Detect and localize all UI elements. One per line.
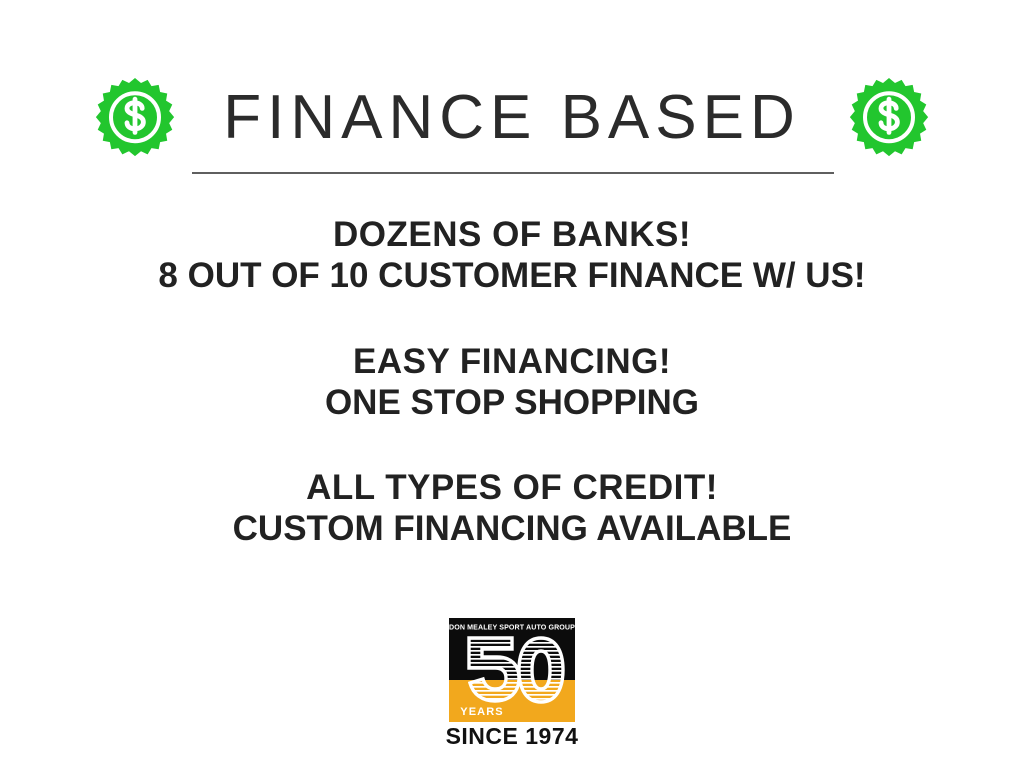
- copy-subline: 8 OUT OF 10 CUSTOMER FINANCE W/ US!: [0, 255, 1024, 296]
- copy-headline: ALL TYPES OF CREDIT!: [0, 467, 1024, 508]
- title-divider: [192, 172, 834, 174]
- copy-subline: ONE STOP SHOPPING: [0, 382, 1024, 423]
- copy-block-credit: ALL TYPES OF CREDIT! CUSTOM FINANCING AV…: [0, 467, 1024, 550]
- copy-subline: CUSTOM FINANCING AVAILABLE: [0, 508, 1024, 549]
- logo-top-text: DON MEALEY SPORT AUTO GROUP: [449, 624, 575, 632]
- fifty-years-logo-mark: DON MEALEY SPORT AUTO GROUP: [449, 618, 575, 722]
- dollar-gear-icon-right: [849, 78, 929, 158]
- copy-headline: EASY FINANCING!: [0, 341, 1024, 382]
- body-copy: DOZENS OF BANKS! 8 OUT OF 10 CUSTOMER FI…: [0, 214, 1024, 550]
- page-title: FINANCE BASED: [223, 87, 801, 149]
- logo-years-label: YEARS: [460, 706, 503, 718]
- dealer-logo: DON MEALEY SPORT AUTO GROUP: [449, 618, 575, 748]
- copy-block-banks: DOZENS OF BANKS! 8 OUT OF 10 CUSTOMER FI…: [0, 214, 1024, 297]
- header: FINANCE BASED: [0, 78, 1024, 158]
- copy-block-financing: EASY FINANCING! ONE STOP SHOPPING: [0, 341, 1024, 424]
- copy-headline: DOZENS OF BANKS!: [0, 214, 1024, 255]
- slide-canvas: FINANCE BASED DOZENS OF BANKS! 8 OUT OF …: [0, 0, 1024, 768]
- logo-since-text: SINCE 1974: [446, 725, 579, 748]
- dollar-gear-icon-left: [95, 78, 175, 158]
- logo-digit-five: [469, 638, 519, 701]
